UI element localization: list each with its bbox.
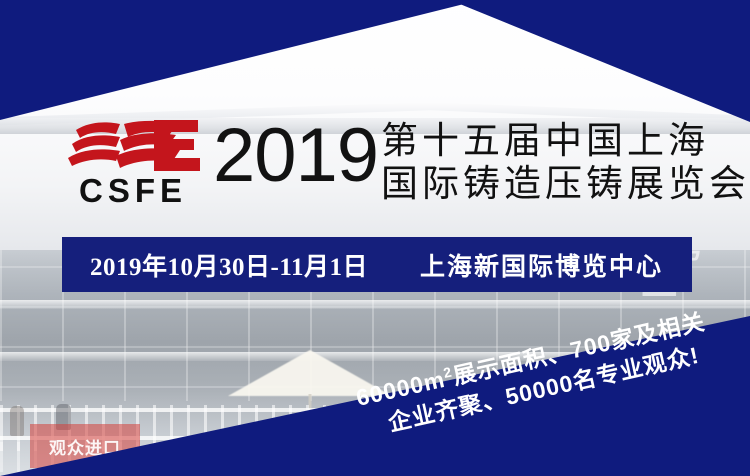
page-title: 第十五届中国上海 国际铸造压铸展览会 — [381, 119, 750, 205]
edition-year: 2019 — [213, 118, 378, 194]
title-line-2: 国际铸造压铸展览会 — [381, 162, 750, 205]
event-venue: 上海新国际博览中心 — [420, 247, 663, 283]
csfe-wordmark: CSFE — [58, 174, 208, 207]
event-date: 2019年10月30日-11月1日 — [90, 247, 368, 283]
csfe-swoosh-e-logo-icon — [58, 118, 208, 176]
csfe-logo: CSFE — [58, 118, 208, 210]
exhibition-promo-banner: SNIEC 1号 观众进口 — [0, 0, 750, 476]
title-line-1: 第十五届中国上海 — [381, 119, 750, 162]
visitor-figure — [10, 406, 24, 436]
event-info-bar: 2019年10月30日-11月1日 上海新国际博览中心 — [62, 237, 692, 292]
